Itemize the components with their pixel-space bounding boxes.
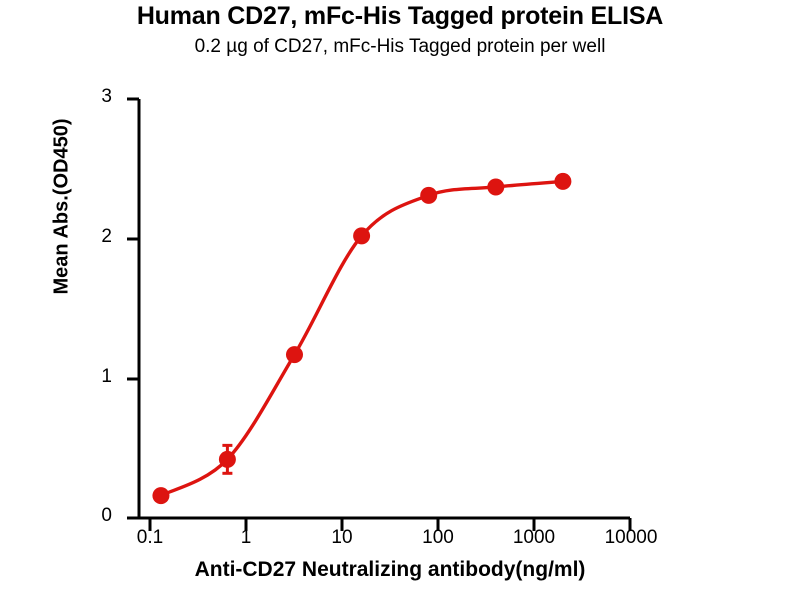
data-point: [554, 173, 571, 190]
axis-spines: [139, 99, 630, 518]
data-point: [353, 227, 370, 244]
x-axis-ticks: [150, 518, 630, 531]
data-point-markers: [152, 173, 571, 504]
data-point: [152, 487, 169, 504]
data-point: [286, 346, 303, 363]
plot-area: [0, 0, 800, 600]
y-axis-ticks: [127, 99, 139, 518]
elisa-chart-figure: Human CD27, mFc-His Tagged protein ELISA…: [0, 0, 800, 600]
data-point: [487, 178, 504, 195]
data-point: [219, 451, 236, 468]
data-point: [420, 187, 437, 204]
